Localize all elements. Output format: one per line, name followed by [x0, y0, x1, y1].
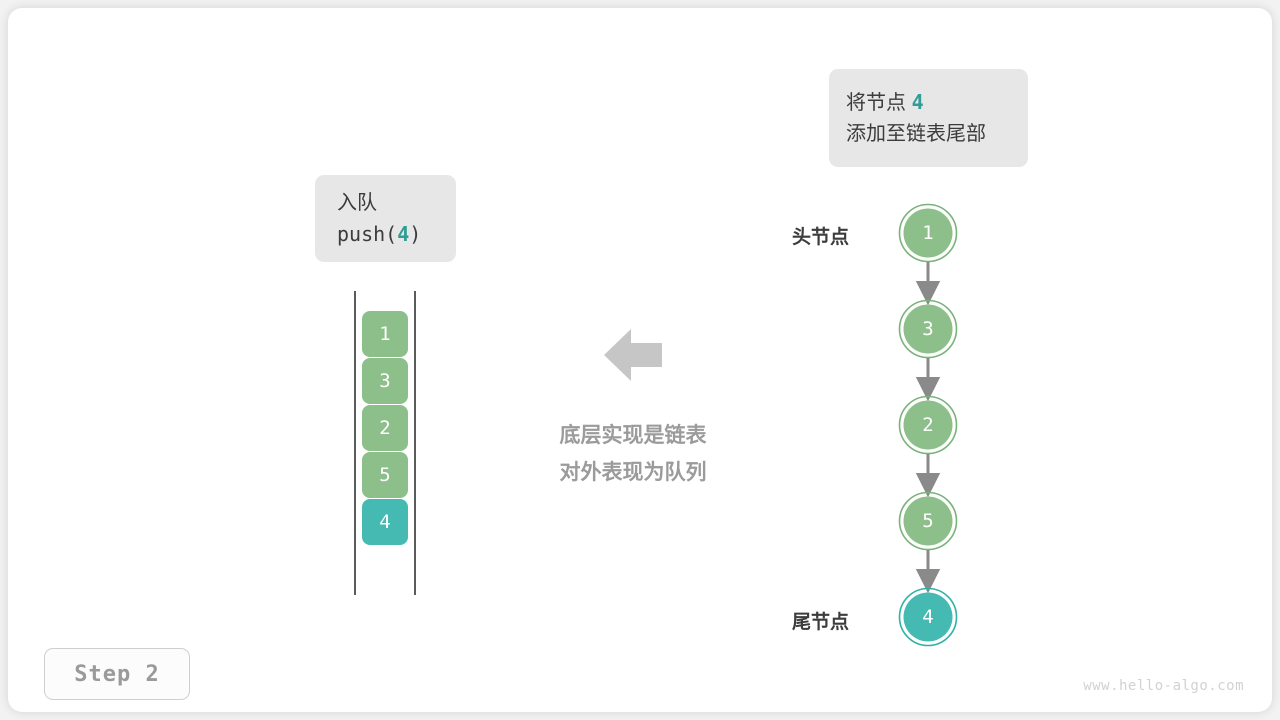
- figure-canvas: 入队 push(4) 将节点 4 添加至链表尾部 1 3 2 5 4: [0, 0, 1280, 720]
- tail-callout: 将节点 4 添加至链表尾部: [829, 69, 1028, 167]
- push-code-suffix: ): [409, 222, 421, 246]
- list-node-new: 4: [900, 589, 957, 646]
- queue-cell-list: 1 3 2 5 4: [362, 311, 408, 545]
- push-callout-code: push(4): [337, 219, 456, 250]
- svg-text:5: 5: [922, 510, 933, 532]
- center-caption-line2: 对外表现为队列: [518, 455, 748, 492]
- queue-cell: 2: [362, 405, 408, 451]
- left-arrow-icon: [604, 329, 662, 381]
- queue-cell: 5: [362, 452, 408, 498]
- queue-column: 1 3 2 5 4: [348, 291, 421, 595]
- svg-text:3: 3: [922, 318, 933, 340]
- watermark: www.hello-algo.com: [1083, 678, 1244, 694]
- tail-callout-prefix: 将节点: [846, 92, 912, 114]
- push-callout: 入队 push(4): [315, 175, 456, 262]
- push-code-value: 4: [397, 222, 409, 246]
- push-code-prefix: push(: [337, 222, 397, 246]
- svg-text:1: 1: [922, 222, 933, 244]
- figure-card: 入队 push(4) 将节点 4 添加至链表尾部 1 3 2 5 4: [8, 8, 1272, 712]
- head-node-label: 头节点: [792, 222, 849, 249]
- queue-cell: 4: [362, 499, 408, 545]
- svg-text:4: 4: [922, 606, 933, 628]
- tail-callout-line2: 添加至链表尾部: [846, 119, 1028, 150]
- tail-callout-value: 4: [912, 90, 924, 114]
- tail-node-label: 尾节点: [792, 607, 849, 634]
- queue-cell: 1: [362, 311, 408, 357]
- center-caption: 底层实现是链表 对外表现为队列: [518, 418, 748, 492]
- list-node: 3: [900, 301, 957, 358]
- push-callout-line1: 入队: [337, 188, 456, 219]
- step-badge: Step 2: [44, 648, 190, 700]
- queue-cell: 3: [362, 358, 408, 404]
- tail-callout-line1: 将节点 4: [846, 87, 1028, 119]
- linked-list-diagram: 1 3 2 5: [788, 198, 1008, 658]
- linked-list-svg: 1 3 2 5: [788, 198, 1008, 658]
- list-node: 1: [900, 205, 957, 262]
- svg-text:2: 2: [922, 414, 933, 436]
- queue-rail-left: [354, 291, 356, 595]
- list-node: 5: [900, 493, 957, 550]
- list-node: 2: [900, 397, 957, 454]
- queue-rail-right: [414, 291, 416, 595]
- center-caption-line1: 底层实现是链表: [518, 418, 748, 455]
